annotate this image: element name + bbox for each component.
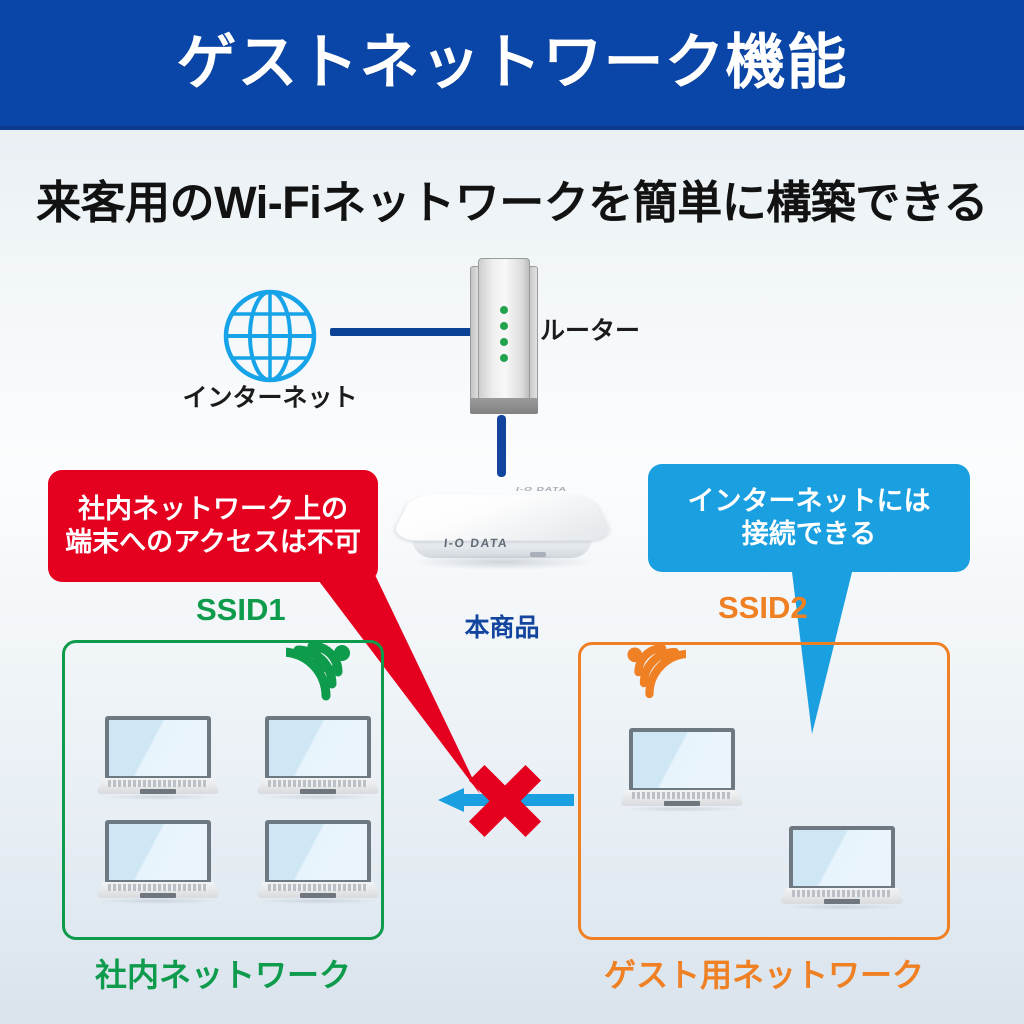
laptop-device — [96, 820, 220, 904]
laptop-lid — [789, 826, 895, 890]
laptop-lid — [105, 820, 211, 884]
router-led — [500, 322, 508, 330]
laptop-touchpad — [140, 893, 176, 898]
laptop-screen — [793, 830, 891, 886]
callout-right: インターネットには 接続できる — [648, 464, 970, 572]
access-point-brand-logo: I-O DATA — [443, 536, 509, 550]
ssid2-label: SSID2 — [718, 590, 808, 626]
callout-left: 社内ネットワーク上の 端末へのアクセスは不可 — [48, 470, 378, 582]
laptop-touchpad — [300, 789, 336, 794]
laptop-lid — [265, 716, 371, 780]
laptop-keyboard — [268, 780, 368, 787]
laptop-keyboard — [632, 792, 732, 799]
access-point-top — [389, 495, 615, 541]
laptop-device — [96, 716, 220, 800]
laptop-screen — [269, 824, 367, 880]
laptop-keyboard — [108, 884, 208, 891]
subtitle-text: 来客用のWi-Fiネットワークを簡単に構築できる — [0, 166, 1024, 231]
laptop-screen — [633, 732, 731, 788]
laptop-lid — [105, 716, 211, 780]
laptop-shadow — [100, 898, 216, 904]
wifi-signal-icon — [622, 644, 686, 704]
laptop-shadow — [784, 904, 900, 910]
router-base — [470, 398, 538, 414]
callout-right-line1: インターネットには — [688, 485, 931, 518]
laptop-shadow — [260, 794, 376, 800]
page-title: ゲストネットワーク機能 — [177, 33, 848, 93]
laptop-device — [780, 826, 904, 910]
internet-label: インターネット — [160, 378, 380, 414]
laptop-keyboard — [268, 884, 368, 891]
laptop-device — [620, 728, 744, 812]
header-banner: ゲストネットワーク機能 — [0, 0, 1024, 130]
ethernet-line — [330, 328, 478, 336]
router-device — [470, 258, 538, 410]
guest-network-label: ゲスト用ネットワーク — [578, 950, 950, 996]
laptop-device — [256, 716, 380, 800]
router-led — [500, 338, 508, 346]
router-label: ルーター — [540, 311, 640, 347]
callout-left-line1: 社内ネットワーク上の — [78, 493, 348, 526]
globe-icon — [222, 288, 318, 384]
callout-right-line2: 接続できる — [742, 518, 876, 551]
laptop-screen — [109, 720, 207, 776]
laptop-touchpad — [824, 899, 860, 904]
laptop-touchpad — [664, 801, 700, 806]
access-point-top-logo: I-O DATA — [515, 486, 568, 492]
infographic-page: ゲストネットワーク機能 来客用のWi-Fiネットワークを簡単に構築できる インタ… — [0, 0, 1024, 1024]
laptop-device — [256, 820, 380, 904]
ssid1-label: SSID1 — [196, 592, 286, 628]
laptop-touchpad — [140, 789, 176, 794]
router-led — [500, 354, 508, 362]
router-body — [478, 258, 530, 406]
laptop-lid — [629, 728, 735, 792]
laptop-shadow — [260, 898, 376, 904]
router-to-ap-cable — [497, 415, 506, 477]
laptop-touchpad — [300, 893, 336, 898]
laptop-shadow — [100, 794, 216, 800]
laptop-keyboard — [792, 890, 892, 897]
laptop-screen — [109, 824, 207, 880]
wifi-signal-icon — [286, 642, 356, 706]
laptop-keyboard — [108, 780, 208, 787]
router-led — [500, 306, 508, 314]
red-x-icon — [466, 762, 544, 840]
corporate-network-label: 社内ネットワーク — [62, 950, 384, 996]
laptop-shadow — [624, 806, 740, 812]
laptop-screen — [269, 720, 367, 776]
laptop-lid — [265, 820, 371, 884]
callout-left-line2: 端末へのアクセスは不可 — [65, 526, 361, 559]
